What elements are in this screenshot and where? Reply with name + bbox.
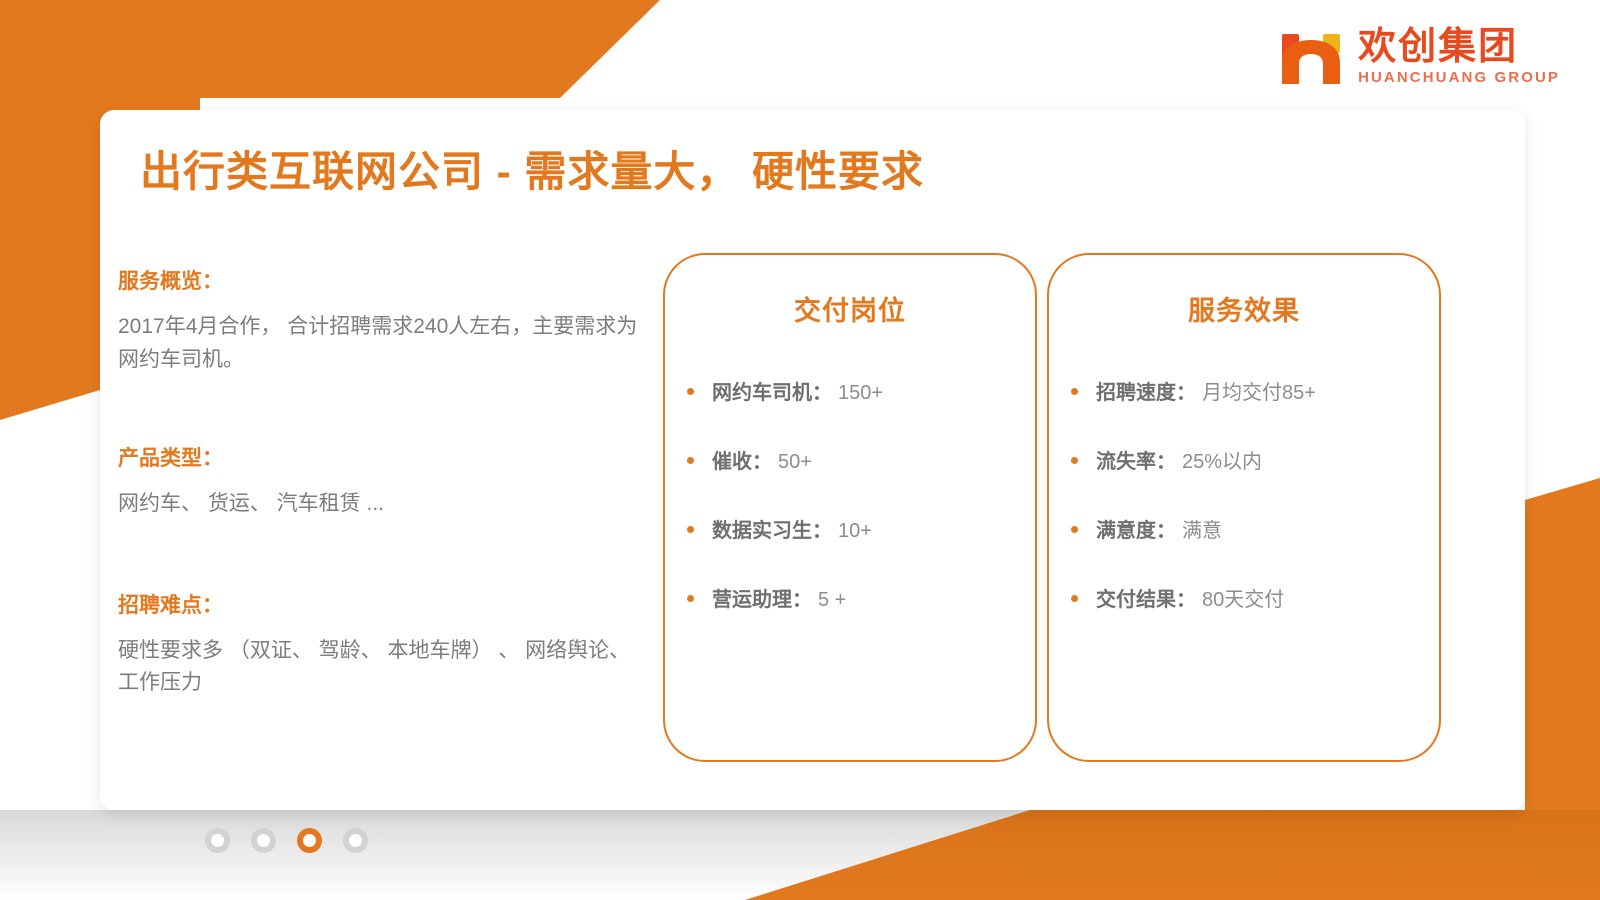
card-title: 交付岗位 — [665, 289, 1035, 328]
list-item: 招聘速度： 月均交付85+ — [1071, 376, 1439, 405]
spacer — [118, 386, 648, 442]
section-heading: 招聘难点： — [118, 589, 648, 619]
card-title: 服务效果 — [1049, 289, 1439, 328]
list-item: 满意度： 满意 — [1071, 514, 1439, 543]
logo-mark-icon — [1280, 24, 1344, 88]
list-item: 催收： 50+ — [687, 445, 1035, 474]
spacer — [118, 531, 648, 589]
slide: 欢创集团 HUANCHUANG GROUP 出行类互联网公司 - 需求量大， 硬… — [0, 0, 1600, 900]
section-body: 网约车、 货运、 汽车租赁 ... — [118, 488, 648, 521]
card-service-results: 服务效果 招聘速度： 月均交付85+ 流失率： 25%以内 满意度： 满意 交付… — [1047, 253, 1441, 762]
section-body: 硬性要求多 （双证、 驾龄、 本地车牌） 、 网络舆论、 工作压力 — [118, 635, 648, 700]
item-label: 招聘速度： — [1096, 376, 1196, 405]
list-item: 网约车司机： 150+ — [687, 376, 1035, 405]
card-item-list: 网约车司机： 150+ 催收： 50+ 数据实习生： 10+ 营运助理： 5 + — [665, 376, 1035, 612]
list-item: 营运助理： 5 + — [687, 583, 1035, 612]
bullet-icon — [1071, 457, 1078, 464]
page-title: 出行类互联网公司 - 需求量大， 硬性要求 — [140, 138, 924, 199]
logo-wordmark: 欢创集团 HUANCHUANG GROUP — [1358, 27, 1560, 85]
item-value: 满意 — [1182, 514, 1222, 543]
bullet-icon — [687, 526, 694, 533]
item-label: 营运助理： — [712, 583, 812, 612]
section-body: 2017年4月合作， 合计招聘需求240人左右，主要需求为网约车司机。 — [118, 311, 648, 376]
bullet-icon — [687, 595, 694, 602]
bullet-icon — [1071, 388, 1078, 395]
list-item: 流失率： 25%以内 — [1071, 445, 1439, 474]
pagination-dot-3[interactable] — [297, 828, 322, 853]
item-value: 150+ — [838, 382, 883, 405]
pagination-dot-1[interactable] — [205, 828, 230, 853]
item-value: 10+ — [838, 520, 872, 543]
card-item-list: 招聘速度： 月均交付85+ 流失率： 25%以内 满意度： 满意 交付结果： 8… — [1049, 376, 1439, 612]
bullet-icon — [1071, 526, 1078, 533]
list-item: 交付结果： 80天交付 — [1071, 583, 1439, 612]
item-label: 网约车司机： — [712, 376, 832, 405]
overview-column: 服务概览： 2017年4月合作， 合计招聘需求240人左右，主要需求为网约车司机… — [118, 265, 648, 710]
list-item: 数据实习生： 10+ — [687, 514, 1035, 543]
bullet-icon — [687, 457, 694, 464]
item-value: 5 + — [818, 589, 846, 612]
section-service-overview: 服务概览： 2017年4月合作， 合计招聘需求240人左右，主要需求为网约车司机… — [118, 265, 648, 376]
item-value: 80天交付 — [1202, 583, 1284, 612]
logo-text-en: HUANCHUANG GROUP — [1358, 70, 1560, 85]
item-label: 交付结果： — [1096, 583, 1196, 612]
item-value: 月均交付85+ — [1202, 376, 1316, 405]
brand-logo: 欢创集团 HUANCHUANG GROUP — [1280, 24, 1560, 88]
item-value: 25%以内 — [1182, 445, 1262, 474]
bullet-icon — [1071, 595, 1078, 602]
bullet-icon — [687, 388, 694, 395]
item-label: 满意度： — [1096, 514, 1176, 543]
section-heading: 产品类型： — [118, 442, 648, 472]
pagination-dots[interactable] — [205, 828, 368, 853]
item-label: 催收： — [712, 445, 772, 474]
card-delivered-positions: 交付岗位 网约车司机： 150+ 催收： 50+ 数据实习生： 10+ 营运助理… — [663, 253, 1037, 762]
section-heading: 服务概览： — [118, 265, 648, 295]
section-recruiting-challenges: 招聘难点： 硬性要求多 （双证、 驾龄、 本地车牌） 、 网络舆论、 工作压力 — [118, 589, 648, 700]
pagination-dot-2[interactable] — [251, 828, 276, 853]
pagination-dot-4[interactable] — [343, 828, 368, 853]
item-label: 流失率： — [1096, 445, 1176, 474]
section-product-type: 产品类型： 网约车、 货运、 汽车租赁 ... — [118, 442, 648, 521]
item-value: 50+ — [778, 451, 812, 474]
item-label: 数据实习生： — [712, 514, 832, 543]
logo-text-cn: 欢创集团 — [1358, 27, 1560, 65]
